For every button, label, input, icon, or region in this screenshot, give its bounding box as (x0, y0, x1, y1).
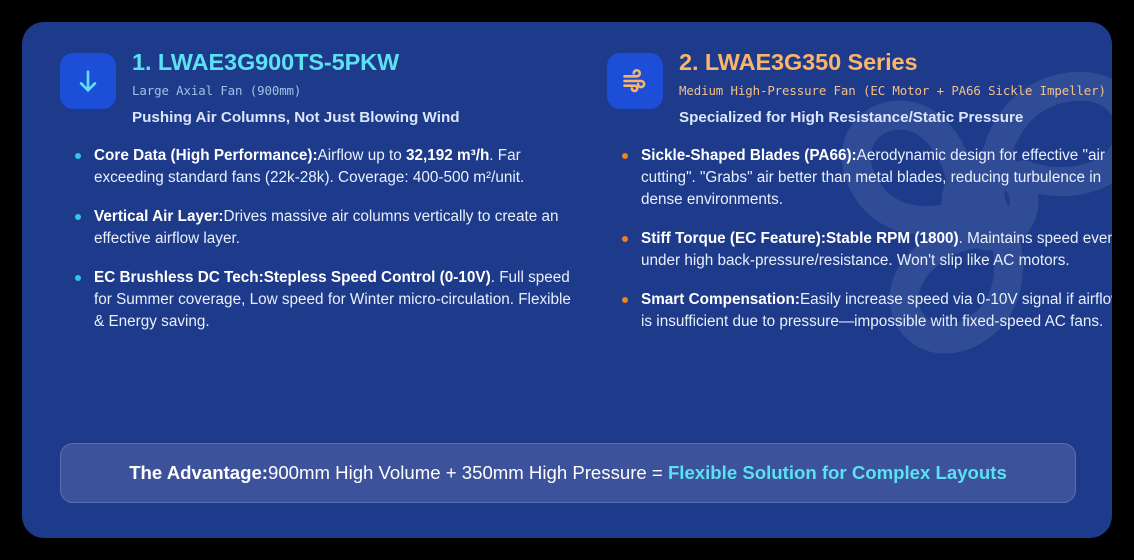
advantage-label: The Advantage: (129, 462, 268, 483)
wind-badge (607, 53, 663, 109)
bullet-lead: Smart Compensation: (641, 291, 800, 308)
list-item: Smart Compensation:Easily increase speed… (619, 289, 1112, 333)
down-arrow-icon (74, 67, 102, 95)
bullet-lead: Vertical Air Layer: (94, 208, 224, 225)
down-arrow-badge (60, 53, 116, 109)
columns-container: 1. LWAE3G900TS-5PKW Large Axial Fan (900… (60, 48, 1096, 333)
advantage-banner: The Advantage:900mm High Volume + 350mm … (60, 443, 1076, 503)
advantage-body: 900mm High Volume + 350mm High Pressure … (268, 462, 668, 483)
list-item: Vertical Air Layer:Drives massive air co… (72, 206, 589, 250)
product-1-heading-text: 1. LWAE3G900TS-5PKW Large Axial Fan (900… (132, 48, 589, 128)
bullet-body-before: Airflow up to (318, 147, 406, 164)
bullet-lead: Stiff Torque (EC Feature): (641, 230, 826, 247)
bullet-body-strong: Stable RPM (1800) (826, 230, 959, 247)
product-comparison-card: 1. LWAE3G900TS-5PKW Large Axial Fan (900… (22, 22, 1112, 538)
product-2-tagline: Specialized for High Resistance/Static P… (679, 108, 1112, 128)
product-1-feature-list: Core Data (High Performance):Airflow up … (72, 145, 589, 333)
list-item: EC Brushless DC Tech:Stepless Speed Cont… (72, 267, 589, 333)
product-2-heading-text: 2. LWAE3G350 Series Medium High-Pressure… (679, 48, 1112, 128)
list-item: Stiff Torque (EC Feature):Stable RPM (18… (619, 228, 1112, 272)
product-2-header: 2. LWAE3G350 Series Medium High-Pressure… (607, 48, 1112, 128)
bullet-body-strong: Stepless Speed Control (0-10V) (264, 269, 491, 286)
product-2-title: 2. LWAE3G350 Series (679, 49, 1112, 77)
product-1-title: 1. LWAE3G900TS-5PKW (132, 49, 589, 77)
product-1-tagline: Pushing Air Columns, Not Just Blowing Wi… (132, 108, 589, 128)
product-column-1: 1. LWAE3G900TS-5PKW Large Axial Fan (900… (60, 48, 589, 333)
list-item: Sickle-Shaped Blades (PA66):Aerodynamic … (619, 145, 1112, 211)
product-2-subtitle: Medium High-Pressure Fan (EC Motor + PA6… (679, 82, 1112, 100)
product-column-2: 2. LWAE3G350 Series Medium High-Pressure… (607, 48, 1112, 333)
product-2-feature-list: Sickle-Shaped Blades (PA66):Aerodynamic … (619, 145, 1112, 333)
wind-icon (621, 67, 649, 95)
bullet-body-strong: 32,192 m³/h (406, 147, 489, 164)
product-1-header: 1. LWAE3G900TS-5PKW Large Axial Fan (900… (60, 48, 589, 128)
advantage-accent: Flexible Solution for Complex Layouts (668, 462, 1007, 483)
list-item: Core Data (High Performance):Airflow up … (72, 145, 589, 189)
bullet-lead: Core Data (High Performance): (94, 147, 318, 164)
advantage-text: The Advantage:900mm High Volume + 350mm … (109, 461, 1027, 484)
product-1-subtitle: Large Axial Fan (900mm) (132, 82, 589, 100)
bullet-lead: Sickle-Shaped Blades (PA66): (641, 147, 857, 164)
bullet-lead: EC Brushless DC Tech: (94, 269, 264, 286)
